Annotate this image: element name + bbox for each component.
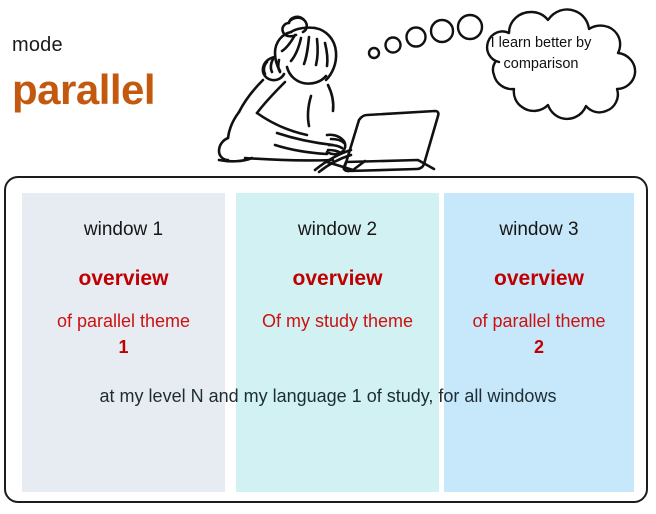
overview-heading: overview — [22, 266, 225, 291]
mode-label: mode — [12, 34, 63, 57]
overview-heading: overview — [236, 266, 439, 291]
overview-subtitle-text: Of my study theme — [262, 311, 413, 331]
window-title: window 3 — [444, 219, 634, 242]
mode-value: parallel — [12, 69, 155, 111]
window-title: window 1 — [22, 219, 225, 242]
shared-caption: at my level N and my language 1 of study… — [6, 383, 650, 410]
window-panel-2[interactable]: window 2 overview Of my study theme — [236, 193, 439, 492]
window-panel-3[interactable]: window 3 overview of parallel theme 2 — [444, 193, 634, 492]
overview-subtitle-text: of parallel theme — [472, 311, 605, 331]
overview-subtitle: of parallel theme 2 — [444, 308, 634, 360]
overview-heading: overview — [444, 266, 634, 291]
thought-bubble-icon — [366, 6, 656, 151]
windows-container: window 1 overview of parallel theme 1 wi… — [4, 176, 648, 503]
window-panel-1[interactable]: window 1 overview of parallel theme 1 — [22, 193, 225, 492]
overview-theme-number: 1 — [118, 337, 128, 357]
overview-subtitle-text: of parallel theme — [57, 311, 190, 331]
thought-bubble-text: I learn better by comparison — [466, 33, 616, 75]
window-title: window 2 — [236, 219, 439, 242]
overview-subtitle: Of my study theme — [236, 308, 439, 334]
overview-theme-number: 2 — [534, 337, 544, 357]
overview-subtitle: of parallel theme 1 — [22, 308, 225, 360]
